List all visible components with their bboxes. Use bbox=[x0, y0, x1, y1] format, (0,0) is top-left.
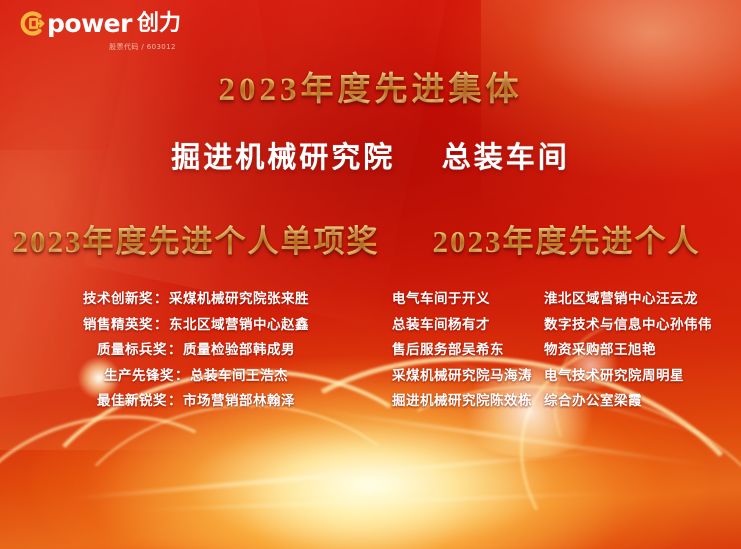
heading-advanced-individuals: 2023年度先进个人 bbox=[392, 216, 741, 261]
list-item: 最佳新锐奖：市场营销部林翰泽 bbox=[97, 388, 295, 414]
logo-wordmark-cn: 创力 bbox=[137, 13, 181, 35]
separator: ： bbox=[168, 393, 182, 408]
stock-code-label: 股票代码 / 603012 bbox=[18, 42, 233, 52]
list-item: 质量标兵奖：质量检验部韩成男 bbox=[97, 337, 295, 363]
recipient-name: 综合办公室梁霞 bbox=[544, 388, 642, 414]
separator: ： bbox=[175, 368, 189, 383]
award-name: 生产先锋奖 bbox=[104, 368, 174, 383]
list-item: 总装车间杨有才 数字技术与信息中心孙伟伟 bbox=[392, 312, 741, 338]
recipient-name: 淮北区域营销中心汪云龙 bbox=[544, 286, 698, 312]
list-item: 技术创新奖：采煤机械研究院张来胜 bbox=[83, 286, 309, 312]
company-logo: power 创力 股票代码 / 603012 bbox=[18, 10, 233, 52]
award-poster: power 创力 股票代码 / 603012 2023年度先进集体 掘进机械研究… bbox=[0, 0, 741, 549]
recipient-name: 东北区域营销中心赵鑫 bbox=[169, 317, 309, 332]
poster-content: 2023年度先进集体 掘进机械研究院 总装车间 2023年度先进个人单项奖 20… bbox=[0, 0, 741, 549]
single-award-list: 技术创新奖：采煤机械研究院张来胜 销售精英奖：东北区域营销中心赵鑫 质量标兵奖：… bbox=[0, 286, 392, 414]
list-item: 采煤机械研究院马海涛 电气技术研究院周明星 bbox=[392, 363, 741, 389]
winner-lists: 技术创新奖：采煤机械研究院张来胜 销售精英奖：东北区域营销中心赵鑫 质量标兵奖：… bbox=[0, 286, 741, 414]
award-name: 销售精英奖 bbox=[83, 317, 153, 332]
award-name: 技术创新奖 bbox=[83, 291, 153, 306]
list-item: 电气车间于开义 淮北区域营销中心汪云龙 bbox=[392, 286, 741, 312]
award-section-headings: 2023年度先进个人单项奖 2023年度先进个人 bbox=[0, 216, 741, 261]
recipient-name: 物资采购部王旭艳 bbox=[544, 337, 656, 363]
logo-wordmark: power bbox=[47, 11, 132, 36]
separator: ： bbox=[168, 342, 182, 357]
separator: ： bbox=[154, 317, 168, 332]
recipient-name: 总装车间王浩杰 bbox=[190, 368, 288, 383]
list-item: 售后服务部吴希东 物资采购部王旭艳 bbox=[392, 337, 741, 363]
logo-row: power 创力 bbox=[18, 10, 233, 37]
recipient-name: 掘进机械研究院陈效栋 bbox=[392, 388, 544, 414]
recipient-name: 市场营销部林翰泽 bbox=[183, 393, 295, 408]
collective-winner-2: 总装车间 bbox=[442, 142, 570, 174]
page-title: 2023年度先进集体 bbox=[0, 62, 741, 110]
heading-single-awards: 2023年度先进个人单项奖 bbox=[0, 216, 392, 261]
c-power-mark-icon bbox=[18, 10, 45, 37]
recipient-name: 电气技术研究院周明星 bbox=[544, 363, 684, 389]
award-name: 质量标兵奖 bbox=[97, 342, 167, 357]
collective-winners: 掘进机械研究院 总装车间 bbox=[0, 134, 741, 176]
recipient-name: 采煤机械研究院马海涛 bbox=[392, 363, 544, 389]
recipient-name: 电气车间于开义 bbox=[392, 286, 544, 312]
collective-winner-1: 掘进机械研究院 bbox=[171, 142, 395, 174]
list-item: 销售精英奖：东北区域营销中心赵鑫 bbox=[83, 312, 309, 338]
advanced-individual-list: 电气车间于开义 淮北区域营销中心汪云龙 总装车间杨有才 数字技术与信息中心孙伟伟… bbox=[392, 286, 741, 414]
recipient-name: 数字技术与信息中心孙伟伟 bbox=[544, 312, 712, 338]
list-item: 掘进机械研究院陈效栋 综合办公室梁霞 bbox=[392, 388, 741, 414]
recipient-name: 售后服务部吴希东 bbox=[392, 337, 544, 363]
recipient-name: 质量检验部韩成男 bbox=[183, 342, 295, 357]
recipient-name: 采煤机械研究院张来胜 bbox=[169, 291, 309, 306]
award-name: 最佳新锐奖 bbox=[97, 393, 167, 408]
separator: ： bbox=[154, 291, 168, 306]
recipient-name: 总装车间杨有才 bbox=[392, 312, 544, 338]
list-item: 生产先锋奖：总装车间王浩杰 bbox=[104, 363, 288, 389]
